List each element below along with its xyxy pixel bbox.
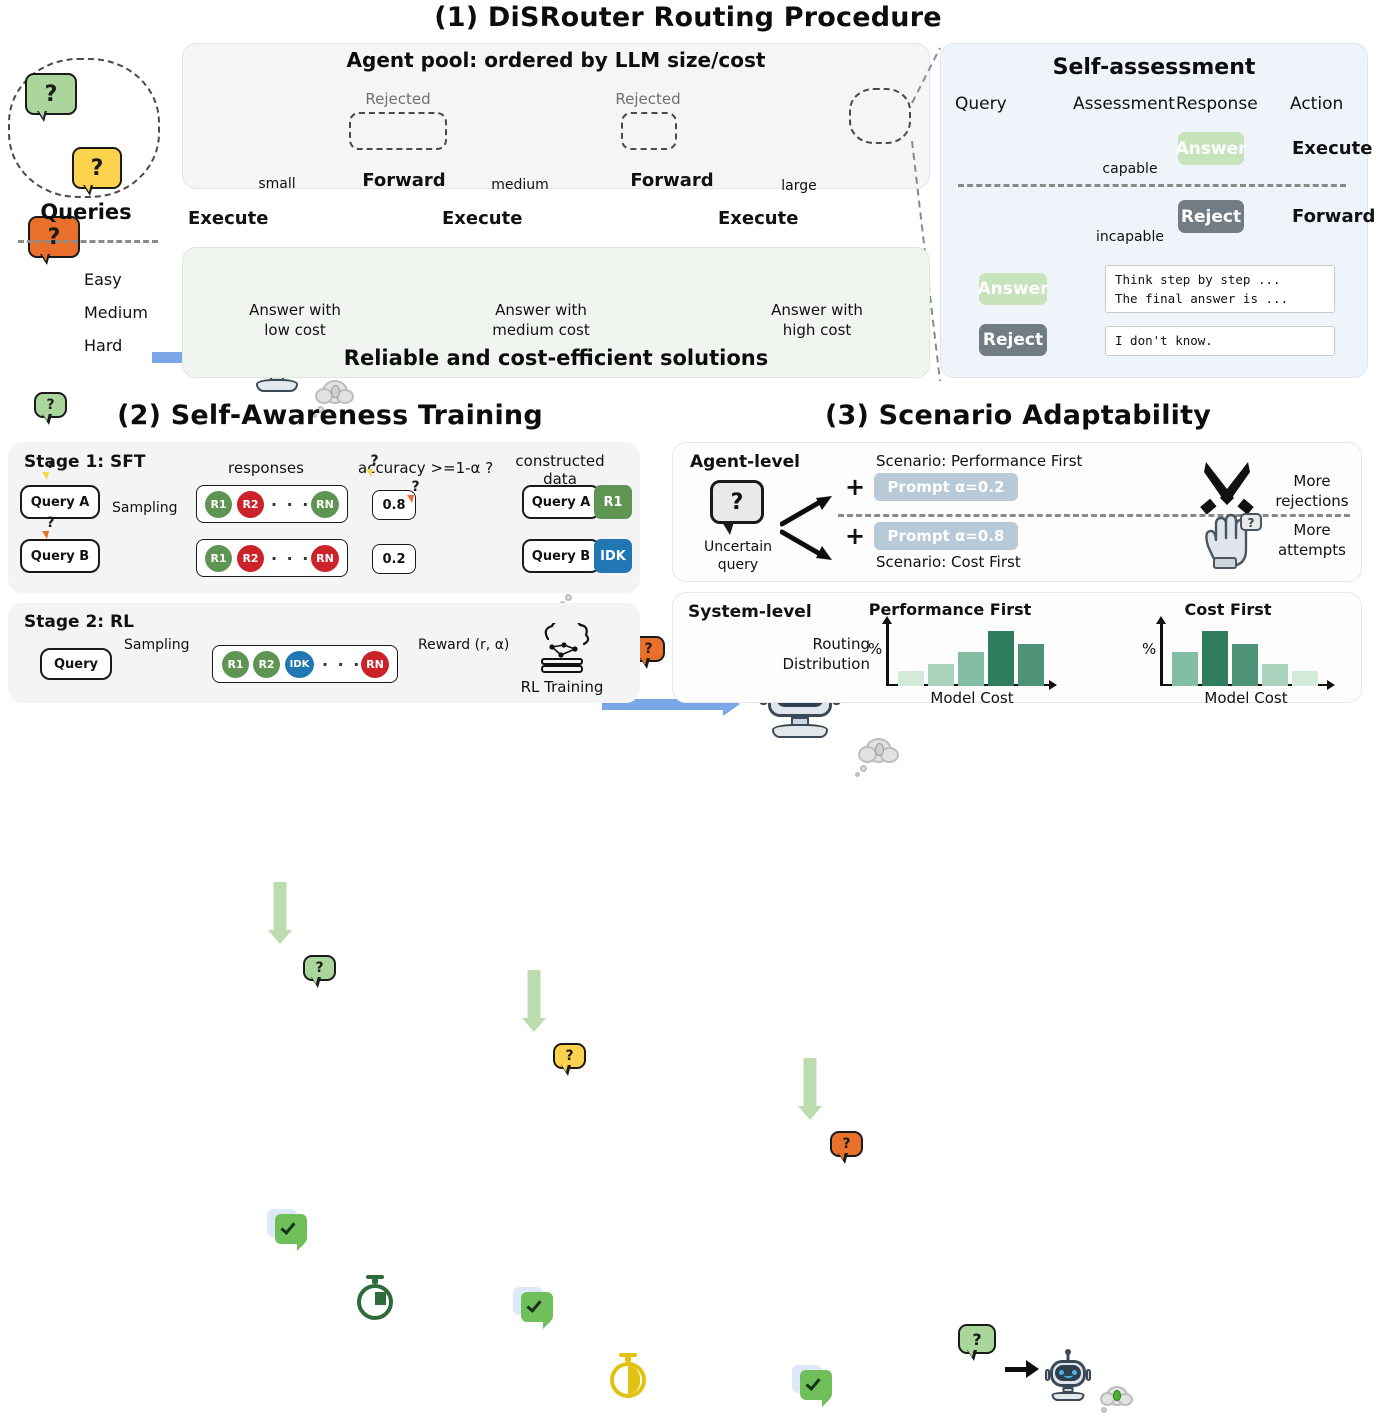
forward-label-2: Forward (602, 170, 742, 191)
sa-row1-response-label: Answer (1176, 139, 1247, 159)
routing-distribution-line2: Distribution (740, 654, 870, 674)
legend-label-medium: Medium (84, 303, 148, 322)
stage1-col-constructed: constructed data (500, 452, 620, 488)
execute-label-small: Execute (188, 208, 268, 229)
stage1-resp-a-1: R1 (205, 491, 232, 518)
chart-2-plot (1160, 624, 1336, 686)
agent-level-outcome-bottom-line2: attempts (1262, 541, 1362, 561)
agent-level-outcome-top-line2: rejections (1262, 492, 1362, 512)
stage2-query-label: Query (54, 657, 98, 672)
chart-2-bar-1 (1172, 652, 1198, 686)
scenario-cost-first-label: Scenario: Cost First (876, 553, 1021, 571)
prompt-alpha-02-label: Prompt α=0.2 (888, 478, 1005, 496)
stage2-sampling-label: Sampling (124, 637, 190, 653)
stage2-resp-n-label: RN (366, 658, 384, 671)
stage1-output-b: Query B (522, 539, 600, 573)
stage2-query: Query (40, 648, 112, 680)
stage1-output-a: Query A (522, 485, 600, 519)
execute-label-medium: Execute (442, 208, 522, 229)
system-level-heading: System-level (688, 602, 812, 622)
chart-1-bar-4 (988, 631, 1014, 686)
legend-label-easy: Easy (84, 270, 122, 289)
stage2-reward-label: Reward (r, α) (418, 637, 509, 653)
stage1-resp-b-dots: · · · (271, 549, 310, 568)
execute-arrow-large (797, 1058, 823, 1120)
section-1-title: (1) DiSRouter Routing Procedure (0, 2, 1376, 33)
stage1-resp-a-2-label: R2 (242, 498, 258, 511)
answer-check-chip-3 (800, 1370, 834, 1402)
example-answer-badge: Answer (979, 273, 1047, 305)
chart-2-bar-5 (1292, 671, 1318, 686)
rejected-mark-1a: ? (370, 453, 378, 469)
stage1-sampling-label: Sampling (112, 500, 178, 516)
agent-pool-title: Agent pool: ordered by LLM size/cost (182, 48, 930, 72)
uncertain-query-tail (722, 522, 734, 535)
uncertain-query-line2: query (700, 556, 776, 574)
chart-2-y-axis (1160, 624, 1163, 686)
stage1-accuracy-a-value: 0.8 (382, 498, 405, 513)
execute-arrow-medium (521, 970, 547, 1032)
query-bubble-easy: ? (25, 73, 77, 115)
executed-bubble-small: ? (303, 955, 336, 981)
stage1-title: Stage 1: SFT (24, 452, 145, 472)
chart-1-plot (886, 624, 1058, 686)
solution-text-3: Answer with high cost (758, 300, 876, 341)
agent-level-outcome-top: More rejections (1262, 472, 1362, 511)
stage1-resp-b-2-label: R2 (242, 552, 258, 565)
stopwatch-medium-cost (608, 1353, 648, 1399)
stage1-resp-b-2: R2 (237, 545, 264, 572)
executed-bubble-large: ? (830, 1131, 863, 1157)
chart-1-bar-5 (1018, 644, 1044, 686)
sa-row1-robot (1044, 1349, 1092, 1401)
executed-mark-medium: ? (565, 1048, 573, 1064)
chart-1-bar-1 (898, 671, 924, 686)
query-bubble-medium: ? (72, 147, 122, 189)
uncertain-split-arrows (780, 488, 840, 568)
scenario-performance-first-label: Scenario: Performance First (876, 452, 1082, 470)
chart-2-bar-2 (1202, 631, 1228, 686)
self-assessment-col-response: Response (1176, 94, 1258, 114)
sa-row1-response-badge: Answer (1178, 132, 1244, 165)
stage2-resp-1: R1 (222, 651, 249, 678)
self-assessment-title: Self-assessment (940, 55, 1368, 80)
section-2-title: (2) Self-Awareness Training (0, 400, 660, 431)
agent-level-outcome-top-line1: More (1262, 472, 1362, 492)
stage2-resp-dots: · · · (322, 655, 361, 674)
uncertain-query-bubble: ? (710, 480, 764, 524)
solution-text-3-line2: high cost (758, 320, 876, 340)
sa-row2-action-label: Forward (1292, 206, 1375, 227)
uncertain-query-label: Uncertain query (700, 538, 776, 574)
prompt-alpha-08-label: Prompt α=0.8 (888, 527, 1005, 545)
routing-distribution-label: Routing Distribution (740, 634, 870, 675)
stage2-resp-2-label: R2 (258, 658, 274, 671)
sa-row1-action-label: Execute (1292, 138, 1372, 159)
example-answer-badge-label: Answer (978, 279, 1049, 299)
chart-2-ylabel: % (1142, 640, 1156, 658)
solution-text-1-line2: low cost (240, 320, 350, 340)
chart-2-bar-3 (1232, 644, 1258, 686)
stage1-accuracy-b: 0.2 (372, 544, 416, 574)
solution-text-2-line1: Answer with (478, 300, 604, 320)
routing-distribution-line1: Routing (740, 634, 870, 654)
query-bubble-easy-mark: ? (45, 82, 58, 107)
rl-training-label: RL Training (512, 678, 612, 696)
solution-text-3-line1: Answer with (758, 300, 876, 320)
chart-2-xlabel: Model Cost (1160, 689, 1332, 707)
self-assessment-col-query: Query (955, 94, 1007, 114)
self-assessment-col-action: Action (1290, 94, 1343, 114)
sa-row1-query-bubble: ? (958, 1324, 996, 1354)
executed-mark-large: ? (842, 1136, 850, 1152)
stage2-resp-2: R2 (253, 651, 280, 678)
executed-bubble-medium: ? (553, 1043, 586, 1069)
agent-level-outcome-bottom: More attempts (1262, 521, 1362, 560)
stage1-output-a-query: Query A (532, 495, 591, 510)
chart-1-xlabel: Model Cost (886, 689, 1058, 707)
example-reject-text-box: I don't know. (1105, 326, 1335, 356)
sa-row2-response-label: Reject (1181, 207, 1241, 227)
stage1-resp-a-1-label: R1 (210, 498, 226, 511)
solutions-footer: Reliable and cost-efficient solutions (182, 346, 930, 370)
stage1-resp-a-2: R2 (237, 491, 264, 518)
stage1-resp-b-n: RN (311, 545, 339, 572)
chart-1-title: Performance First (830, 600, 1070, 619)
rejected-box-1 (349, 112, 447, 150)
forward-label-1: Forward (343, 170, 465, 191)
query-bubble-hard-mark: ? (48, 225, 61, 250)
chart-2-bar-4 (1262, 664, 1288, 686)
agent-label-large: large (752, 178, 846, 194)
agent-level-plus-bottom: + (845, 522, 865, 550)
sa-row1-arrow-1 (1005, 1364, 1039, 1374)
stage1-query-b-label: Query B (31, 549, 89, 564)
query-bubble-medium-mark: ? (91, 156, 104, 181)
stage1-output-b-query: Query B (532, 549, 590, 564)
stage1-query-b: Query B (20, 539, 100, 573)
stage1-query-a-label: Query A (31, 495, 90, 510)
rejected-box-2 (621, 112, 677, 150)
stage2-title: Stage 2: RL (24, 612, 134, 632)
stage1-output-a-tag: R1 (594, 485, 632, 519)
stage2-resp-idk-label: IDK (290, 659, 310, 670)
executed-mark-small: ? (315, 960, 323, 976)
example-reject-badge: Reject (979, 324, 1047, 356)
uncertain-query-mark: ? (731, 490, 744, 515)
stage1-resp-a-n-label: RN (316, 498, 334, 511)
rejected-mark-2a: ? (644, 641, 652, 657)
chart-1-bar-3 (958, 652, 984, 686)
stage2-resp-idk: IDK (285, 651, 314, 678)
sa-row1-query-mark: ? (972, 1330, 981, 1349)
agent-level-outcome-bottom-line1: More (1262, 521, 1362, 541)
legend-label-hard: Hard (84, 336, 122, 355)
execute-label-large: Execute (718, 208, 798, 229)
chart-1-y-axis (886, 624, 889, 686)
uncertain-query-line1: Uncertain (700, 538, 776, 556)
example-answer-text-box: Think step by step ... The final answer … (1105, 265, 1335, 313)
rl-training-icon (530, 623, 592, 675)
raised-hand-icon: ? (1200, 512, 1262, 570)
answer-check-chip-2 (521, 1292, 555, 1324)
agent-level-heading: Agent-level (690, 452, 800, 472)
legend-mark-hard: ? (46, 515, 54, 531)
sa-row1-thought-cloud (1099, 1386, 1137, 1420)
stage1-resp-b-1: R1 (205, 545, 232, 572)
stage2-resp-n: RN (361, 651, 389, 678)
agent-level-divider (838, 514, 1350, 517)
execute-arrow-small (267, 882, 293, 944)
chart-2-y-axis-arrow (1156, 616, 1166, 624)
stage1-col-responses: responses (228, 459, 304, 477)
prompt-alpha-02-chip[interactable]: Prompt α=0.2 (874, 473, 1018, 501)
solution-text-1: Answer with low cost (240, 300, 350, 341)
queries-legend-divider (18, 240, 158, 243)
chart-1-ylabel: % (868, 640, 882, 658)
solution-text-1-line1: Answer with (240, 300, 350, 320)
chart-1-bar-2 (928, 664, 954, 686)
agent-label-medium: medium (478, 177, 562, 193)
thought-cloud-large (857, 738, 903, 782)
self-assessment-col-assessment: Assessment (1073, 94, 1175, 114)
prompt-alpha-08-chip[interactable]: Prompt α=0.8 (874, 522, 1018, 550)
rejected-label-2: Rejected (608, 90, 688, 108)
solution-text-2: Answer with medium cost (478, 300, 604, 341)
self-assessment-row-divider (958, 184, 1346, 187)
queries-label: Queries (0, 200, 172, 224)
rejected-label-1: Rejected (353, 90, 443, 108)
stage1-col-constructed-line1: constructed (500, 452, 620, 470)
sa-row2-response-badge: Reject (1178, 200, 1244, 233)
section-3-title: (3) Scenario Adaptability (660, 400, 1376, 431)
stage2-resp-1-label: R1 (227, 658, 243, 671)
stage1-query-a: Query A (20, 485, 100, 519)
stage1-resp-b-n-label: RN (316, 552, 334, 565)
agent-level-plus-top: + (845, 473, 865, 501)
sa-row2-assessment-label: incapable (1088, 229, 1172, 245)
stage1-output-b-tag-label: IDK (600, 549, 626, 564)
stage1-resp-a-dots: · · · (271, 495, 310, 514)
stage1-resp-a-n: RN (311, 491, 339, 518)
svg-text:?: ? (1248, 516, 1255, 530)
answer-check-chip-1 (275, 1214, 309, 1246)
legend-mark-medium: ? (46, 456, 54, 472)
chart-1-y-axis-arrow (882, 616, 892, 624)
rejected-mark-1b: ? (411, 479, 419, 495)
crossed-swords-icon (1200, 458, 1254, 516)
stage1-accuracy-b-value: 0.2 (382, 552, 405, 567)
example-reject-badge-label: Reject (983, 330, 1043, 350)
legend-mark-easy: ? (46, 397, 54, 413)
sa-row1-assessment-label: capable (1092, 161, 1168, 177)
solution-text-2-line2: medium cost (478, 320, 604, 340)
sa-row1-bulb (1113, 1390, 1121, 1401)
stopwatch-low-cost (355, 1275, 395, 1321)
agent-label-small: small (243, 176, 311, 192)
stage1-output-b-tag: IDK (594, 539, 632, 573)
stage1-resp-b-1-label: R1 (210, 552, 226, 565)
stage1-output-a-tag-label: R1 (603, 495, 622, 510)
